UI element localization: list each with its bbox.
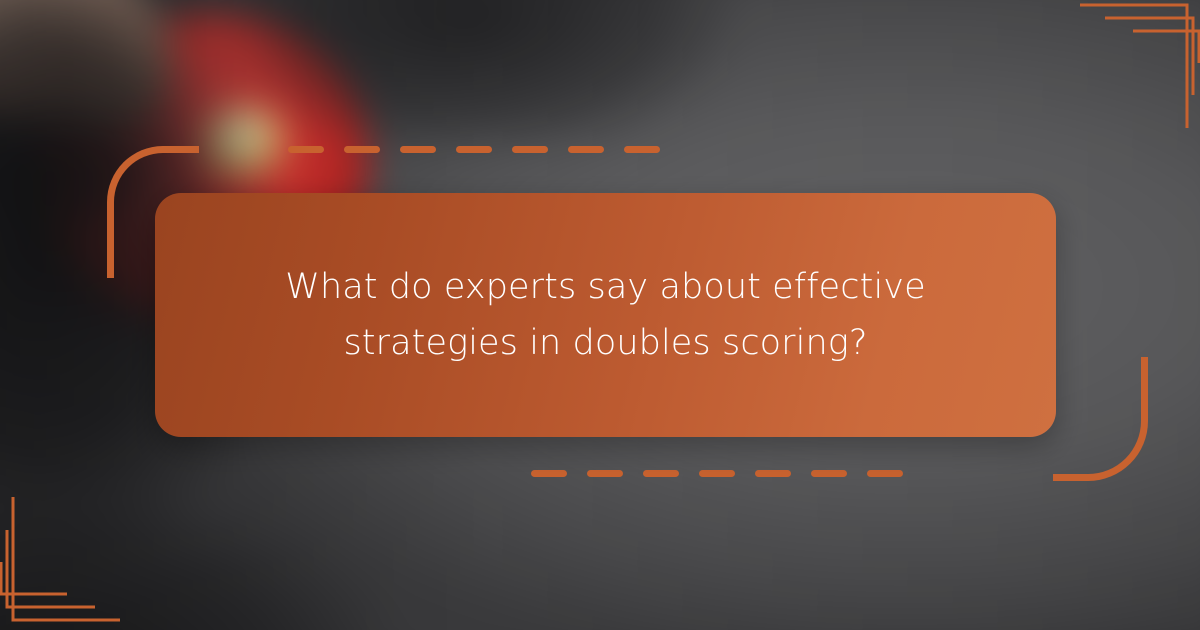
corner-lines-icon xyxy=(0,495,200,625)
dash-segment xyxy=(288,146,324,153)
dash-segment xyxy=(531,470,567,477)
corner-lines-icon xyxy=(1000,0,1200,130)
dash-segment xyxy=(587,470,623,477)
question-card: What do experts say about effective stra… xyxy=(155,193,1056,437)
dash-segment xyxy=(867,470,903,477)
dash-segment xyxy=(699,470,735,477)
dash-segment xyxy=(568,146,604,153)
dash-segment xyxy=(811,470,847,477)
corner-ornament-bottom-left xyxy=(0,495,200,630)
dashed-line-top xyxy=(288,146,688,153)
quote-card-canvas: What do experts say about effective stra… xyxy=(0,0,1200,630)
question-title: What do experts say about effective stra… xyxy=(276,259,936,371)
dash-segment xyxy=(400,146,436,153)
dash-segment xyxy=(456,146,492,153)
dash-segment xyxy=(624,146,660,153)
dashed-line-bottom xyxy=(531,470,1001,477)
dash-segment xyxy=(344,146,380,153)
dash-segment xyxy=(643,470,679,477)
dash-segment xyxy=(512,146,548,153)
dash-segment xyxy=(755,470,791,477)
corner-ornament-top-right xyxy=(1000,0,1200,135)
